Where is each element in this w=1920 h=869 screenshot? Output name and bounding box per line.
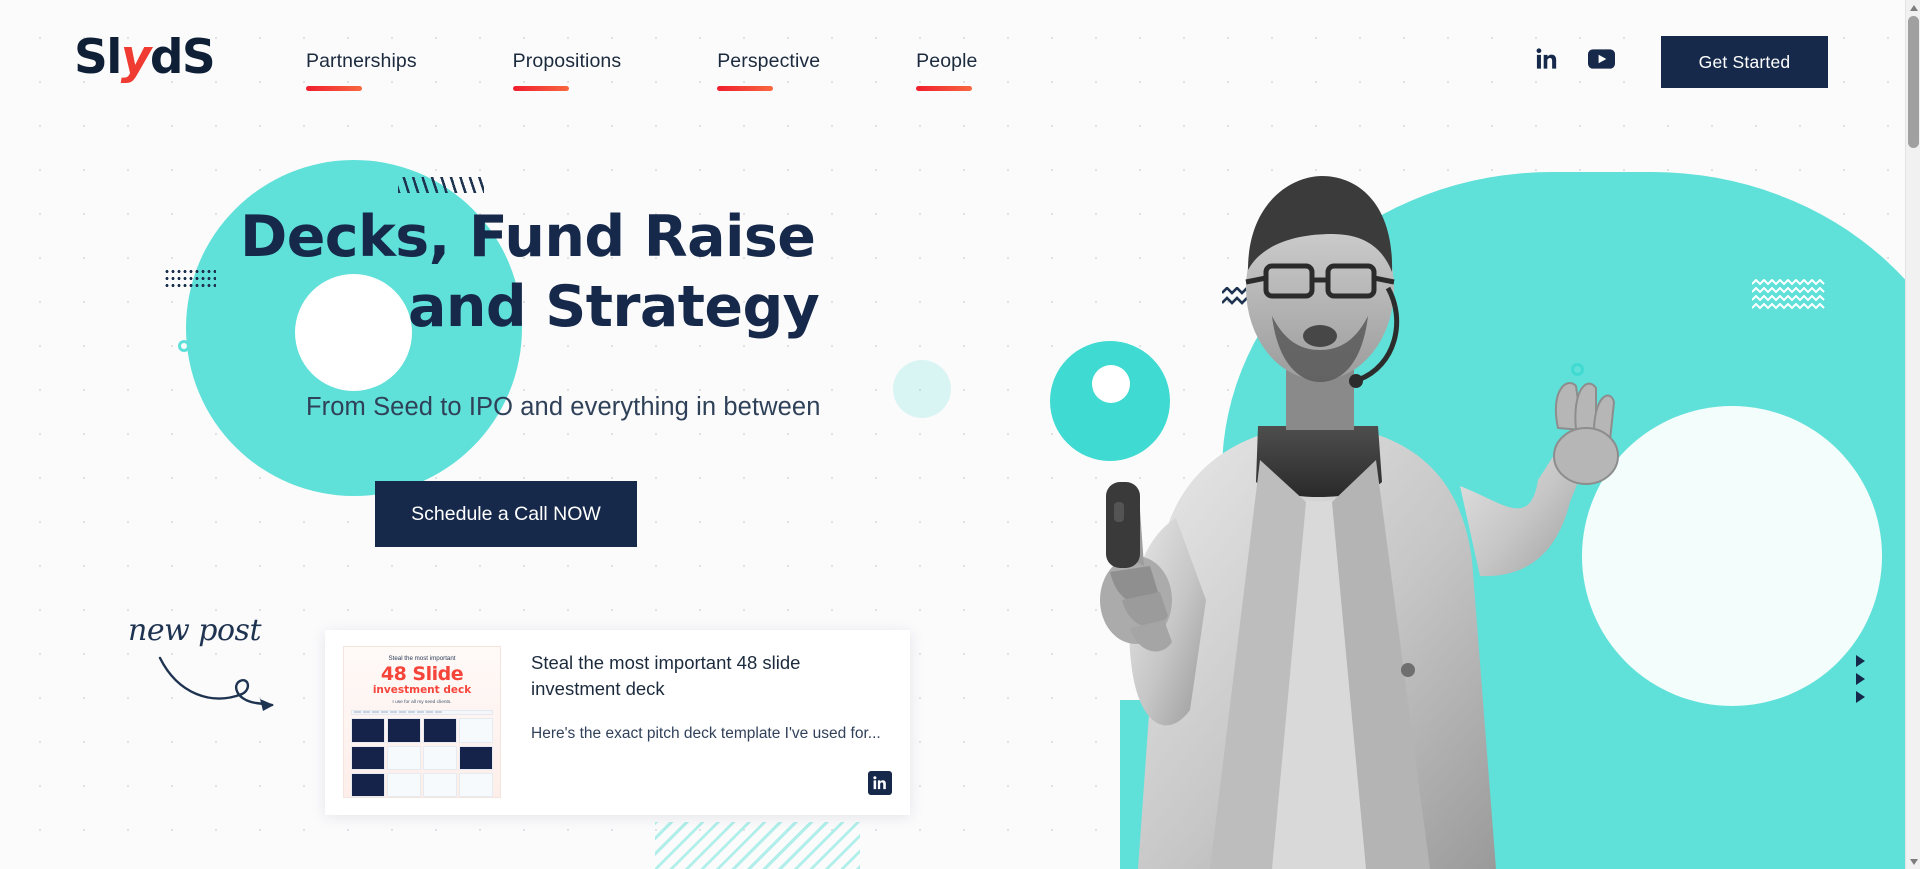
post-source-linkedin-icon[interactable]	[868, 771, 892, 795]
thumbnail-headline-sub: investment deck	[351, 685, 493, 697]
youtube-icon[interactable]	[1588, 49, 1615, 69]
thumbnail-slide	[351, 718, 385, 743]
post-card[interactable]: Steal the most important 48 Slide invest…	[325, 630, 910, 815]
carousel-next-button[interactable]	[1856, 655, 1865, 703]
nav-item-partnerships[interactable]: Partnerships	[306, 50, 417, 91]
logo[interactable]: SlydS	[74, 34, 214, 81]
thumbnail-slide	[423, 773, 457, 797]
nav-item-label: People	[916, 50, 977, 73]
dotted-grid-background	[0, 0, 1920, 869]
thumbnail-slide-grid	[351, 773, 493, 797]
nav-item-perspective[interactable]: Perspective	[717, 50, 820, 91]
chevron-right-icon	[1856, 673, 1865, 685]
get-started-button[interactable]: Get Started	[1661, 36, 1828, 88]
thumbnail-slide	[459, 746, 493, 770]
thumbnail-slide-grid	[351, 746, 493, 770]
logo-text-accent: y	[121, 30, 150, 85]
nav-underline-icon	[306, 86, 362, 91]
nav-underline-icon	[916, 86, 972, 91]
presenter-photo	[1010, 130, 1630, 869]
hatch-marks-icon	[398, 177, 484, 193]
thumbnail-slide	[459, 773, 493, 797]
thumbnail-slide	[387, 746, 421, 770]
thumbnail-headline-number: 48 Slide	[351, 665, 493, 684]
dot-matrix-icon	[164, 268, 216, 290]
chevron-right-icon	[1856, 655, 1865, 667]
linkedin-icon[interactable]	[1536, 48, 1558, 70]
scrollbar-thumb[interactable]	[1908, 16, 1919, 148]
hero-subheading: From Seed to IPO and everything in betwe…	[306, 393, 821, 422]
thumbnail-slide-grid	[351, 718, 493, 743]
logo-text-after: dS	[150, 30, 214, 85]
curly-arrow-icon	[156, 650, 286, 714]
logo-text-before: Sl	[74, 30, 121, 85]
post-excerpt: Here's the exact pitch deck template I'v…	[531, 721, 892, 748]
hero-heading-line1: Decks, Fund Raise	[240, 204, 815, 270]
page-root: SlydS Partnerships Propositions Perspect…	[0, 0, 1920, 869]
new-post-annotation: new post	[128, 613, 278, 713]
teal-circle-outline-left-icon	[178, 340, 190, 352]
post-title: Steal the most important 48 slide invest…	[531, 650, 892, 701]
scroll-down-arrow-icon[interactable]	[1906, 854, 1920, 869]
hero-heading-line2: and Strategy	[408, 273, 1020, 343]
thumbnail-slide	[387, 718, 421, 743]
zigzag-white-icon	[1752, 279, 1826, 313]
diagonal-stripes-icon	[655, 822, 860, 869]
nav-underline-icon	[717, 86, 773, 91]
thumbnail-slide	[351, 773, 385, 797]
thumbnail-slide	[423, 746, 457, 770]
new-post-label: new post	[128, 613, 278, 648]
main-navigation: Partnerships Propositions Perspective Pe…	[306, 50, 978, 91]
hero-decorations	[0, 0, 1920, 869]
thumbnail-note: I use for all my seed clients.	[351, 700, 493, 705]
nav-item-people[interactable]: People	[916, 50, 977, 91]
thumbnail-slide	[423, 718, 457, 743]
thumbnail-slide	[387, 773, 421, 797]
nav-item-propositions[interactable]: Propositions	[513, 50, 622, 91]
nav-underline-icon	[513, 86, 569, 91]
scroll-up-arrow-icon[interactable]	[1906, 0, 1920, 15]
thumbnail-slide	[351, 746, 385, 770]
schedule-call-button[interactable]: Schedule a Call NOW	[375, 481, 637, 547]
chevron-right-icon	[1856, 691, 1865, 703]
thumbnail-toolbar-strip	[351, 710, 493, 715]
page-title: Decks, Fund Raise and Strategy	[240, 203, 1020, 342]
nav-item-label: Propositions	[513, 50, 622, 73]
teal-ghost-circle-icon	[893, 360, 951, 418]
site-header: SlydS Partnerships Propositions Perspect…	[0, 0, 1900, 108]
post-thumbnail: Steal the most important 48 Slide invest…	[343, 646, 501, 798]
page-scrollbar[interactable]	[1905, 0, 1920, 869]
thumbnail-kicker: Steal the most important	[351, 655, 493, 663]
social-links	[1536, 48, 1615, 70]
thumbnail-slide	[459, 718, 493, 743]
nav-item-label: Perspective	[717, 50, 820, 73]
post-card-body: Steal the most important 48 slide invest…	[501, 646, 892, 799]
nav-item-label: Partnerships	[306, 50, 417, 73]
